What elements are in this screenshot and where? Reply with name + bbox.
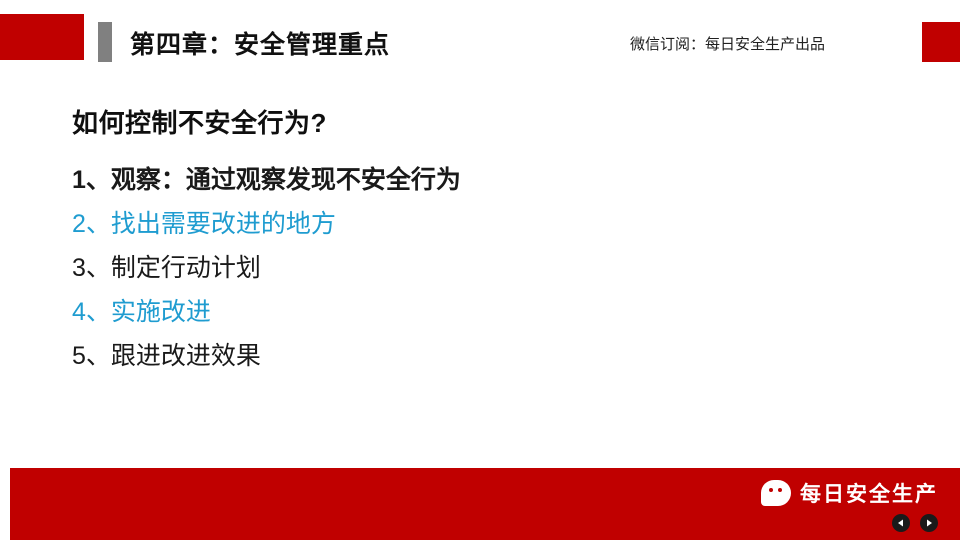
list-item: 4、实施改进 — [72, 290, 872, 334]
header-left-red-block — [0, 14, 84, 60]
header-grey-accent-bar — [98, 22, 112, 62]
chapter-title: 第四章：安全管理重点 — [130, 25, 390, 61]
slide-navigation — [892, 514, 938, 532]
wechat-icon — [761, 480, 791, 506]
wechat-label: 每日安全生产 — [800, 478, 938, 508]
list-item: 2、找出需要改进的地方 — [72, 202, 872, 246]
previous-slide-icon — [896, 518, 906, 528]
header-right-red-block — [922, 22, 960, 62]
footer-left-notch — [0, 468, 10, 540]
list-item: 3、制定行动计划 — [72, 246, 872, 290]
next-slide-button[interactable] — [920, 514, 938, 532]
next-slide-icon — [924, 518, 934, 528]
steps-list: 1、观察：通过观察发现不安全行为 2、找出需要改进的地方 3、制定行动计划 4、… — [72, 158, 872, 378]
slide-canvas: 第四章：安全管理重点 微信订阅：每日安全生产出品 如何控制不安全行为? 1、观察… — [0, 0, 960, 540]
previous-slide-button[interactable] — [892, 514, 910, 532]
page-title: 如何控制不安全行为? — [72, 103, 327, 140]
list-item: 1、观察：通过观察发现不安全行为 — [72, 158, 872, 202]
wechat-badge: 每日安全生产 — [761, 478, 938, 508]
list-item: 5、跟进改进效果 — [72, 334, 872, 378]
subscription-note: 微信订阅：每日安全生产出品 — [630, 33, 825, 54]
